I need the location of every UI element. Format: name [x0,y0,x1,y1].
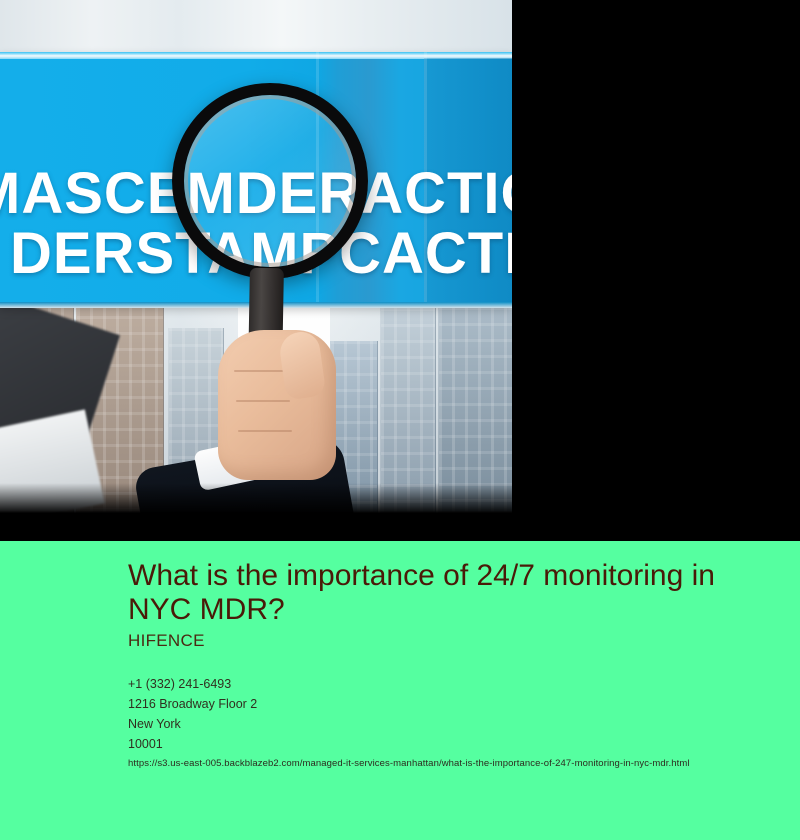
building-shape [438,275,512,513]
hero-region: MASCEMDERACTION DERSTAMPCACTION [0,0,800,541]
brand-name: HIFENCE [128,631,205,651]
article-hero-image: MASCEMDERACTION DERSTAMPCACTION [0,0,512,513]
contact-zip: 10001 [128,734,257,754]
page-title: What is the importance of 24/7 monitorin… [128,559,748,627]
finger-crease [238,430,292,432]
contact-street: 1216 Broadway Floor 2 [128,694,257,714]
source-url[interactable]: https://s3.us-east-005.backblazeb2.com/m… [128,758,690,769]
info-panel: What is the importance of 24/7 monitorin… [0,541,800,840]
finger-crease [234,370,288,372]
finger-crease [236,400,290,402]
contact-phone: +1 (332) 241-6493 [128,674,257,694]
window-grid [439,275,512,513]
lens-sheen [184,95,356,267]
contact-city: New York [128,714,257,734]
contact-block: +1 (332) 241-6493 1216 Broadway Floor 2 … [128,674,257,754]
image-bottom-fade [0,483,512,513]
magnifying-glass-icon [172,83,368,279]
